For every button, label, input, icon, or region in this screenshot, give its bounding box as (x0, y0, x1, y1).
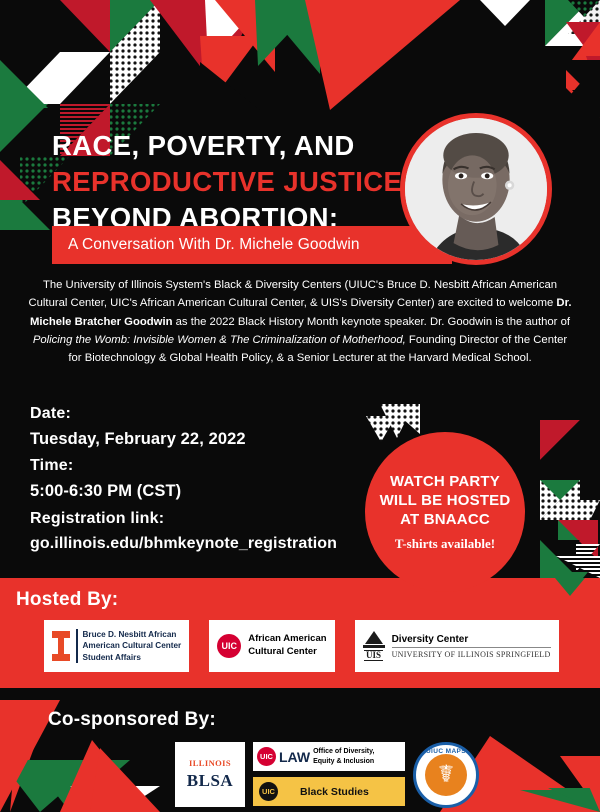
badge-line-3: AT BNAACC (400, 510, 490, 529)
uis-line-2: UNIVERSITY OF ILLINOIS SPRINGFIELD (392, 650, 551, 659)
law-sub-2: Equity & Inclusion (313, 757, 374, 766)
uic-roundel-icon: UIC (217, 634, 241, 658)
uic-aacc-line-1: African American (248, 633, 326, 646)
logo-uic-law-odei: UIC LAW Office of Diversity, Equity & In… (253, 742, 405, 771)
blsa-line-1: ILLINOIS (189, 758, 231, 768)
logo-uic-aacc: UIC African American Cultural Center (209, 620, 334, 672)
speaker-portrait (400, 113, 552, 265)
black-studies-label: Black Studies (300, 786, 369, 798)
logo-bnaacc-text: Bruce D. Nesbitt African American Cultur… (83, 629, 182, 664)
hosted-by-title: Hosted By: (16, 589, 118, 611)
uis-abbr: UIS (364, 650, 383, 662)
uic-aacc-line-2: Cultural Center (248, 646, 326, 659)
date-label: Date: (30, 402, 337, 427)
logo-uis-diversity: UIS Diversity Center UNIVERSITY OF ILLIN… (355, 620, 559, 672)
law-word: LAW (279, 749, 310, 765)
badge-subtext: T-shirts available! (395, 536, 495, 552)
illinois-block-i-icon (52, 631, 70, 661)
subtitle-band: A Conversation With Dr. Michele Goodwin (52, 226, 452, 264)
subtitle-text: A Conversation With Dr. Michele Goodwin (52, 236, 360, 254)
logo-uis-text: Diversity Center UNIVERSITY OF ILLINOIS … (392, 634, 551, 659)
caduceus-icon: ☤ (438, 763, 454, 787)
uic-logo-stack: UIC LAW Office of Diversity, Equity & In… (253, 742, 405, 806)
law-sub-text: Office of Diversity, Equity & Inclusion (313, 747, 374, 765)
uis-line-1: Diversity Center (392, 634, 551, 645)
logo-uiuc-maps: UIUC MAPS ☤ (413, 742, 479, 808)
registration-link[interactable]: go.illinois.edu/bhmkeynote_registration (30, 532, 337, 557)
date-value: Tuesday, February 22, 2022 (30, 427, 337, 453)
desc-part-2: as the 2022 Black History Month keynote … (173, 316, 571, 328)
badge-line-1: WATCH PARTY (390, 472, 500, 491)
time-value: 5:00-6:30 PM (CST) (30, 479, 337, 505)
title-line-1: RACE, POVERTY, AND (52, 128, 397, 164)
bnaacc-line-2: American Cultural Center (83, 640, 182, 652)
desc-part-1: The University of Illinois System's Blac… (28, 279, 557, 309)
logo-uic-aacc-text: African American Cultural Center (248, 633, 326, 659)
description-paragraph: The University of Illinois System's Blac… (28, 276, 572, 367)
logo-illinois-blsa: ILLINOIS BLSA (175, 742, 245, 807)
watch-party-badge: WATCH PARTY WILL BE HOSTED AT BNAACC T-s… (365, 432, 525, 592)
divider (76, 629, 78, 663)
logo-bnaacc: Bruce D. Nesbitt African American Cultur… (44, 620, 189, 672)
title-line-2: REPRODUCTIVE JUSTICE (52, 164, 397, 200)
bnaacc-line-1: Bruce D. Nesbitt African (83, 629, 182, 641)
uic-roundel-icon: UIC (257, 747, 276, 766)
cosponsored-by-title: Co-sponsored By: (48, 709, 216, 731)
law-sub-1: Office of Diversity, (313, 747, 374, 756)
maps-label: UIUC MAPS (416, 748, 476, 755)
maps-seal: ☤ (425, 754, 467, 796)
time-label: Time: (30, 454, 337, 479)
uis-dome-icon: UIS (363, 631, 385, 662)
page-title: RACE, POVERTY, AND REPRODUCTIVE JUSTICE … (52, 128, 397, 235)
uic-roundel-icon: UIC (259, 782, 278, 801)
desc-book-title: Policing the Womb: Invisible Women & The… (33, 334, 406, 346)
logo-uic-black-studies: UIC Black Studies (253, 777, 405, 806)
blsa-line-2: BLSA (187, 771, 233, 791)
bnaacc-line-3: Student Affairs (83, 652, 182, 664)
event-details: Date: Tuesday, February 22, 2022 Time: 5… (30, 402, 337, 558)
poster: RACE, POVERTY, AND REPRODUCTIVE JUSTICE … (0, 0, 600, 812)
hosted-by-logos: Bruce D. Nesbitt African American Cultur… (44, 620, 559, 672)
registration-label: Registration link: (30, 507, 337, 532)
cosponsored-logos: ILLINOIS BLSA UIC LAW Office of Diversit… (175, 742, 479, 808)
badge-line-2: WILL BE HOSTED (380, 491, 511, 510)
